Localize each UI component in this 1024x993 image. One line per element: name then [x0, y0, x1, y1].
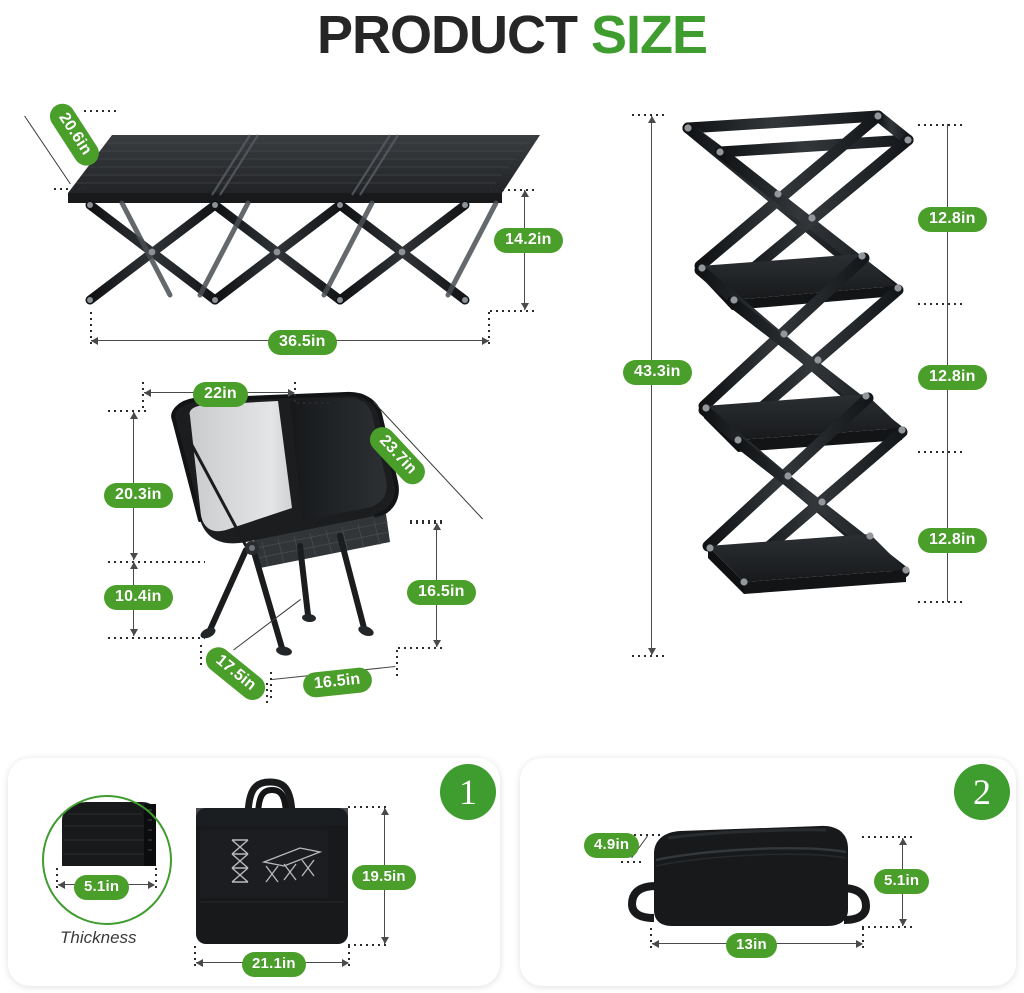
card-1-number-badge: 1 — [440, 764, 496, 820]
table-height-arrow-down — [521, 303, 529, 310]
badge-shelf-tier-1: 12.8in — [918, 207, 987, 232]
bag2-height-arrow-down — [899, 919, 907, 926]
thickness-caption: Thickness — [60, 928, 137, 948]
shelf-tier-guide-2 — [918, 451, 964, 453]
shelf-tier-guide-0 — [918, 124, 964, 126]
badge-bag2-height: 5.1in — [874, 869, 929, 894]
badge-bag1-height: 19.5in — [352, 865, 416, 890]
chair-side-guide-bottom — [398, 647, 442, 649]
card-2-number-badge: 2 — [954, 764, 1010, 820]
table-height-guide-bottom — [490, 310, 538, 312]
chair-base-guide-left — [270, 672, 272, 702]
shelf-total-height-line — [651, 116, 652, 655]
chair-side-arrow-up — [433, 523, 441, 530]
badge-chair-side-height: 16.5in — [407, 580, 476, 605]
chair-floor-guide — [108, 637, 205, 639]
title-word-product: PRODUCT — [317, 5, 577, 65]
chair-base-guide-right — [396, 650, 398, 680]
table-depth-guide-top — [84, 110, 118, 112]
chair-back-height-arrow-up — [130, 412, 138, 419]
badge-shelf-tier-2: 12.8in — [918, 365, 987, 390]
bag2-width-arrow-right — [856, 940, 863, 948]
bag1-height-arrow-down — [381, 937, 389, 944]
bag2-height-arrow-up — [899, 838, 907, 845]
folding-shelf-rack-illustration — [660, 110, 920, 670]
table-width-arrow-left — [91, 337, 98, 345]
chair-seat-mid-guide — [108, 561, 205, 563]
shelf-total-guide-bottom — [632, 655, 666, 657]
bag2-depth-guide-2 — [621, 861, 643, 863]
chair-top-width-arrow-left — [144, 389, 151, 397]
table-height-guide-top — [490, 189, 538, 191]
chair-top-width-arrow-right — [288, 389, 295, 397]
badge-chair-top-width: 22in — [193, 382, 248, 407]
page-title: PRODUCT SIZE — [0, 0, 1024, 66]
badge-chair-seat-height: 10.4in — [104, 585, 173, 610]
bag1-thickness-arrow-right — [148, 881, 155, 889]
bag2-height-guide-bottom — [862, 926, 912, 928]
badge-bag2-width: 13in — [726, 933, 777, 958]
chair-back-height-arrow-down — [130, 553, 138, 560]
bag1-height-arrow-up — [381, 808, 389, 815]
thickness-circle-outline — [42, 795, 172, 925]
table-height-arrow-up — [521, 190, 529, 197]
table-depth-guide-bottom — [54, 188, 88, 190]
badge-shelf-total-height: 43.3in — [623, 360, 692, 385]
chair-diagonal-guide-top — [297, 402, 331, 404]
shelf-total-arrow-up — [648, 116, 656, 123]
badge-shelf-tier-3: 12.8in — [918, 528, 987, 553]
carry-bag-small-illustration — [620, 824, 876, 932]
bag2-width-arrow-left — [652, 940, 659, 948]
bag1-thickness-guide-right — [155, 868, 157, 890]
badge-bag2-depth: 4.9in — [584, 833, 639, 858]
badge-table-width: 36.5in — [268, 330, 337, 355]
bag1-height-guide-bottom — [348, 944, 388, 946]
chair-depth-guide-a — [200, 645, 202, 667]
chair-seat-height-arrow-up — [130, 562, 138, 569]
chair-depth-guide-b — [266, 683, 268, 707]
bag1-width-arrow-left — [196, 959, 203, 967]
folding-table-illustration — [60, 105, 540, 345]
chair-back-top-guide — [108, 410, 150, 412]
bag1-thickness-arrow-left — [58, 881, 65, 889]
carry-bag-large-illustration — [192, 778, 352, 956]
badge-chair-back-height: 20.3in — [104, 483, 173, 508]
badge-table-height: 14.2in — [494, 228, 563, 253]
shelf-tier-guide-1 — [918, 303, 964, 305]
shelf-tier-guide-3 — [918, 601, 964, 603]
bag1-width-arrow-right — [342, 959, 349, 967]
shelf-total-arrow-down — [648, 648, 656, 655]
chair-seat-height-arrow-down — [130, 629, 138, 636]
title-word-size: SIZE — [591, 5, 707, 65]
chair-side-arrow-down — [433, 640, 441, 647]
table-width-arrow-right — [482, 337, 489, 345]
badge-bag1-width: 21.1in — [242, 952, 306, 977]
product-size-infographic: PRODUCT SIZE — [0, 0, 1024, 993]
badge-bag1-thickness: 5.1in — [74, 875, 129, 900]
